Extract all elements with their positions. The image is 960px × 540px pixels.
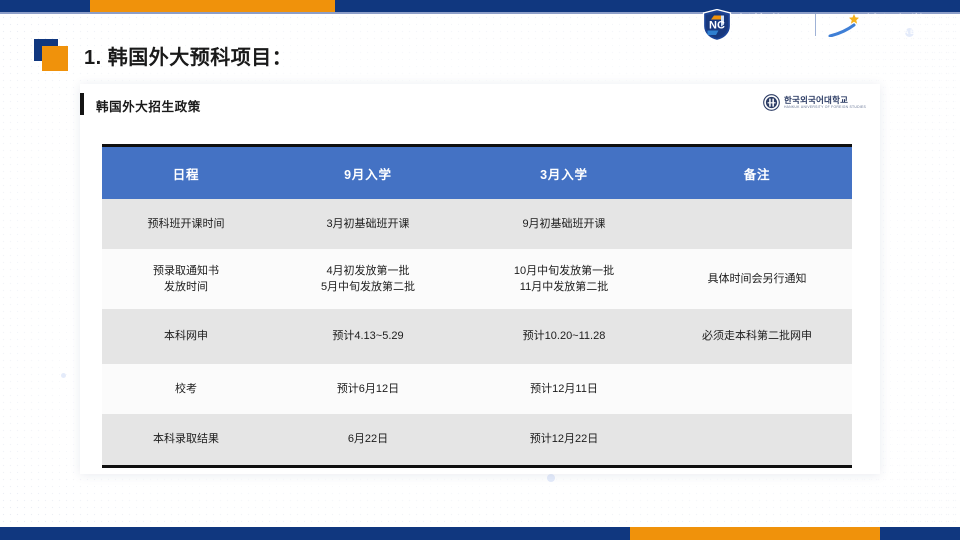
cell-march-intake: 10月中旬发放第一批 11月中发放第二批 [466, 249, 662, 309]
column-header-remark: 备注 [662, 146, 852, 200]
column-header-september-intake: 9月入学 [270, 146, 466, 200]
future-abroad-logo: 前程留学 FUTURE ABROAD [827, 13, 942, 37]
cell-september-line1: 4月初发放第一批 [274, 263, 462, 280]
cell-schedule: 本科录取结果 [102, 414, 270, 466]
new-channel-en: NEW CHANNEL [737, 30, 803, 37]
cell-schedule: 本科网申 [102, 309, 270, 364]
cell-march-intake: 9月初基础班开课 [466, 199, 662, 249]
cell-remark [662, 414, 852, 466]
cell-september-intake: 4月初发放第一批 5月中旬发放第二批 [270, 249, 466, 309]
university-name-en: HANKUK UNIVERSITY OF FOREIGN STUDIES [784, 106, 866, 109]
slide: 1. 韩国外大预科项目： NC 新航道® NEW CHANNEL [0, 0, 960, 540]
title-marker-icon [34, 39, 68, 71]
decorative-bubble [547, 474, 555, 482]
schedule-table-head: 日程 9月入学 3月入学 备注 [102, 146, 852, 200]
column-header-march-intake: 3月入学 [466, 146, 662, 200]
schedule-table: 日程 9月入学 3月入学 备注 预科班开课时间 3月初基础班开课 9月初基础班开… [102, 144, 852, 468]
shield-icon: NC [702, 9, 732, 41]
cell-march-line2: 11月中发放第二批 [470, 279, 658, 296]
cell-remark: 必须走本科第二批网申 [662, 309, 852, 364]
cell-schedule-line2: 发放时间 [106, 279, 266, 296]
cell-september-intake: 3月初基础班开课 [270, 199, 466, 249]
cell-september-line2: 5月中旬发放第二批 [274, 279, 462, 296]
future-abroad-en: FUTURE ABROAD [865, 30, 942, 37]
schedule-table-body: 预科班开课时间 3月初基础班开课 9月初基础班开课 预录取通知书 发放时间 4月… [102, 199, 852, 466]
cell-remark [662, 199, 852, 249]
table-row: 预科班开课时间 3月初基础班开课 9月初基础班开课 [102, 199, 852, 249]
column-header-schedule: 日程 [102, 146, 270, 200]
brand-logos: NC 新航道® NEW CHANNEL 前程留学 FUTURE ABROAD [702, 9, 942, 41]
hufs-seal-icon [763, 94, 780, 111]
table-row: 本科录取结果 6月22日 预计12月22日 [102, 414, 852, 466]
logo-divider [815, 14, 816, 36]
new-channel-wordmark: 新航道® NEW CHANNEL [737, 14, 803, 37]
cell-schedule: 预录取通知书 发放时间 [102, 249, 270, 309]
bottom-accent-bar [0, 527, 960, 540]
cell-march-line1: 10月中旬发放第一批 [470, 263, 658, 280]
new-channel-cn: 新航道® [737, 14, 803, 28]
page-title: 1. 韩国外大预科项目： [34, 38, 292, 72]
cell-september-intake: 预计6月12日 [270, 364, 466, 414]
future-abroad-wordmark: 前程留学 FUTURE ABROAD [865, 14, 942, 37]
university-name-kr: 한국외국어대학교 [784, 96, 866, 105]
new-channel-logo: NC 新航道® NEW CHANNEL [702, 9, 803, 41]
card-accent-bar [80, 93, 84, 115]
cell-september-intake: 6月22日 [270, 414, 466, 466]
cell-schedule-line1: 预录取通知书 [106, 263, 266, 280]
page-title-text: 1. 韩国外大预科项目： [84, 41, 292, 70]
card-header: 韩国外大招生政策 한국외국어대학교 HANKUK UNIVERSITY OF F… [80, 84, 880, 126]
table-row: 预录取通知书 发放时间 4月初发放第一批 5月中旬发放第二批 10月中旬发放第一… [102, 249, 852, 309]
university-wordmark: 한국외국어대학교 HANKUK UNIVERSITY OF FOREIGN ST… [784, 96, 866, 110]
svg-text:NC: NC [709, 20, 725, 32]
cell-schedule: 预科班开课时间 [102, 199, 270, 249]
cell-remark: 具体时间会另行通知 [662, 249, 852, 309]
university-logo: 한국외국어대학교 HANKUK UNIVERSITY OF FOREIGN ST… [763, 94, 866, 111]
card-title: 韩国外大招生政策 [96, 96, 201, 115]
cell-remark [662, 364, 852, 414]
decorative-bubble [61, 373, 66, 378]
cell-schedule: 校考 [102, 364, 270, 414]
cell-march-intake: 预计12月11日 [466, 364, 662, 414]
future-abroad-cn: 前程留学 [865, 14, 942, 28]
schedule-table-wrapper: 日程 9月入学 3月入学 备注 预科班开课时间 3月初基础班开课 9月初基础班开… [102, 144, 852, 468]
bottom-accent-bar-orange-segment [630, 527, 880, 540]
cell-march-intake: 预计10.20~11.28 [466, 309, 662, 364]
cell-march-intake: 预计12月22日 [466, 414, 662, 466]
cell-september-intake: 预计4.13~5.29 [270, 309, 466, 364]
table-row: 校考 预计6月12日 预计12月11日 [102, 364, 852, 414]
swoosh-star-icon [827, 13, 861, 37]
content-card: 韩国外大招生政策 한국외국어대학교 HANKUK UNIVERSITY OF F… [80, 84, 880, 474]
table-row: 本科网申 预计4.13~5.29 预计10.20~11.28 必须走本科第二批网… [102, 309, 852, 364]
top-accent-bar-orange-segment [90, 0, 335, 12]
table-header-row: 日程 9月入学 3月入学 备注 [102, 146, 852, 200]
